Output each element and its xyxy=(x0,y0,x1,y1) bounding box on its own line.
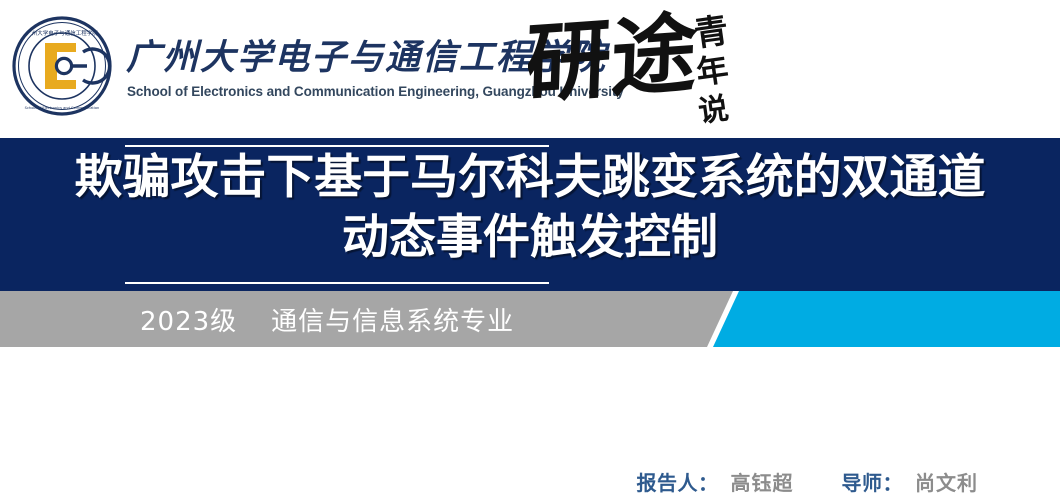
presentation-slide: 广州大学电子与通信工程学院 School of Electronics and … xyxy=(0,0,1060,504)
slide-header: 广州大学电子与通信工程学院 School of Electronics and … xyxy=(0,0,1060,138)
slide-title-line-2: 动态事件触发控制 xyxy=(0,208,1060,268)
svg-text:School of Electronics and Comm: School of Electronics and Communication xyxy=(25,106,100,110)
calligraphy-artwork: 研途 青 年 说 xyxy=(528,2,778,134)
university-seal-logo-icon: 广州大学电子与通信工程学院 School of Electronics and … xyxy=(12,16,112,116)
title-rule-bottom xyxy=(125,282,549,284)
calligraphy-primary-glyphs: 研途 xyxy=(528,2,699,115)
advisor-label: 导师： xyxy=(842,467,904,496)
title-rule-top xyxy=(125,145,549,147)
presenter-label: 报告人： xyxy=(637,467,719,496)
advisor-name: 尚文利 xyxy=(915,467,978,496)
info-band: 2023级 通信与信息系统专业 xyxy=(0,291,1060,347)
major-label: 通信与信息系统专业 xyxy=(271,301,514,338)
title-band: 欺骗攻击下基于马尔科夫跳变系统的双通道 动态事件触发控制 xyxy=(0,138,1060,291)
info-band-text: 2023级 通信与信息系统专业 xyxy=(140,291,514,347)
calligraphy-secondary-glyph-3: 说 xyxy=(696,91,731,130)
slide-footer: 报告人： 高钰超 导师： 尚文利 xyxy=(0,458,1060,504)
calligraphy-secondary-glyph-2: 年 xyxy=(694,50,731,92)
grade-label: 2023级 xyxy=(140,301,237,338)
presenter-name: 高钰超 xyxy=(731,467,794,496)
svg-text:广州大学电子与通信工程学院: 广州大学电子与通信工程学院 xyxy=(26,29,98,37)
calligraphy-secondary-glyph-1: 青 xyxy=(692,11,731,55)
credit-line: 报告人： 高钰超 导师： 尚文利 xyxy=(637,467,979,496)
slide-title-line-1: 欺骗攻击下基于马尔科夫跳变系统的双通道 xyxy=(0,148,1060,208)
slide-title: 欺骗攻击下基于马尔科夫跳变系统的双通道 动态事件触发控制 xyxy=(0,148,1060,268)
